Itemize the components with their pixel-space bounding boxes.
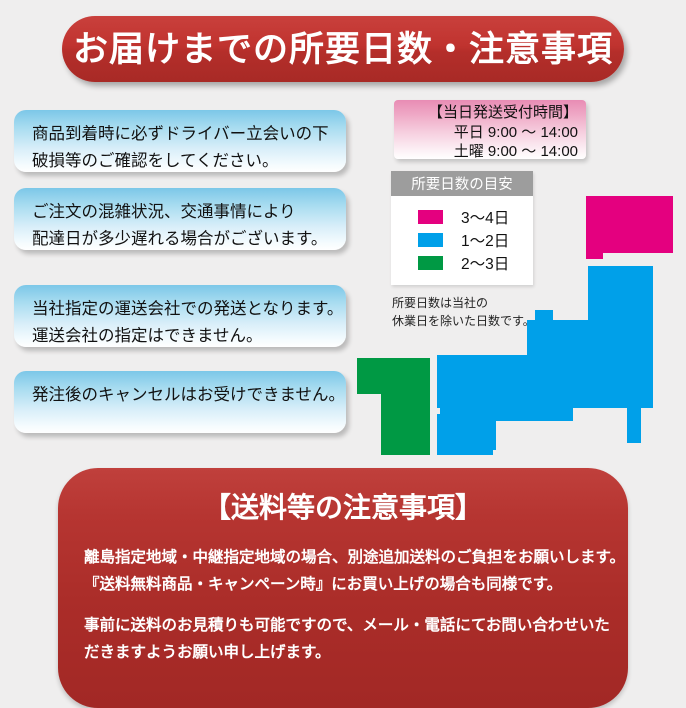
notice-line: 破損等のご確認をしてください。 xyxy=(32,148,332,175)
legend-footnote-line: 休業日を除いた日数です。 xyxy=(392,312,572,330)
notice-line: 配達日が多少遅れる場合がございます。 xyxy=(32,226,332,253)
legend-header: 所要日数の目安 xyxy=(391,171,533,196)
legend-swatch-magenta xyxy=(418,210,443,224)
notice-box-delivery-delay: ご注文の混雑状況、交通事情により 配達日が多少遅れる場合がございます。 xyxy=(14,188,346,250)
notice-line: 商品到着時に必ずドライバー立会いの下 xyxy=(32,121,332,148)
hours-title: 【当日発送受付時間】 xyxy=(394,103,578,123)
map-region-kyushu xyxy=(357,358,430,455)
legend-swatch-blue xyxy=(418,233,443,247)
page-title: お届けまでの所要日数・注意事項 xyxy=(73,32,613,67)
notice-line: 発注後のキャンセルはお受けできません。 xyxy=(32,382,332,409)
legend-label: 2～3日 xyxy=(461,252,509,274)
notice-line: 運送会社の指定はできません。 xyxy=(32,323,332,350)
footer-line: 事前に送料のお見積りも可能ですので、メール・電話にてお問い合わせいた xyxy=(84,612,602,639)
legend-swatch-green xyxy=(418,256,443,270)
legend-footnote-line: 所要日数は当社の xyxy=(392,294,572,312)
hours-weekday: 平日 9:00 ～ 14:00 xyxy=(394,123,578,142)
footer-line: だきますようお願い申し上げます。 xyxy=(84,639,602,666)
notice-line: 当社指定の運送会社での発送となります。 xyxy=(32,296,332,323)
footer-title: 【送料等の注意事項】 xyxy=(58,486,628,530)
delivery-days-legend: 所要日数の目安 3～4日 1～2日 2～3日 xyxy=(391,171,533,285)
hours-saturday: 土曜 9:00 ～ 14:00 xyxy=(394,142,578,161)
legend-item-2-3-days: 2～3日 xyxy=(391,251,533,274)
footer-line: 離島指定地域・中継指定地域の場合、別途追加送料のご負担をお願いします。 xyxy=(84,544,602,571)
legend-label: 3～4日 xyxy=(461,206,509,228)
legend-label: 1～2日 xyxy=(461,229,509,251)
page-title-banner: お届けまでの所要日数・注意事項 xyxy=(62,16,624,82)
footer-body: 離島指定地域・中継指定地域の場合、別途追加送料のご負担をお願いします。 『送料無… xyxy=(58,544,628,666)
same-day-shipping-hours-box: 【当日発送受付時間】 平日 9:00 ～ 14:00 土曜 9:00 ～ 14:… xyxy=(394,100,586,159)
legend-body: 3～4日 1～2日 2～3日 xyxy=(391,196,533,285)
legend-footnote: 所要日数は当社の 休業日を除いた日数です。 xyxy=(392,294,572,330)
map-region-shikoku xyxy=(437,414,493,455)
legend-item-1-2-days: 1～2日 xyxy=(391,228,533,251)
footer-line: 『送料無料商品・キャンペーン時』にお買い上げの場合も同様です。 xyxy=(84,571,602,598)
legend-item-3-4-days: 3～4日 xyxy=(391,205,533,228)
footer-paragraph-gap xyxy=(84,598,602,612)
map-region-hokkaido xyxy=(586,196,673,259)
notice-box-no-cancellation: 発注後のキャンセルはお受けできません。 xyxy=(14,371,346,433)
shipping-fee-notice-panel: 【送料等の注意事項】 離島指定地域・中継指定地域の場合、別途追加送料のご負担をお… xyxy=(58,468,628,708)
notice-box-carrier-selection: 当社指定の運送会社での発送となります。 運送会社の指定はできません。 xyxy=(14,285,346,347)
notice-box-delivery-inspection: 商品到着時に必ずドライバー立会いの下 破損等のご確認をしてください。 xyxy=(14,110,346,172)
notice-line: ご注文の混雑状況、交通事情により xyxy=(32,199,332,226)
